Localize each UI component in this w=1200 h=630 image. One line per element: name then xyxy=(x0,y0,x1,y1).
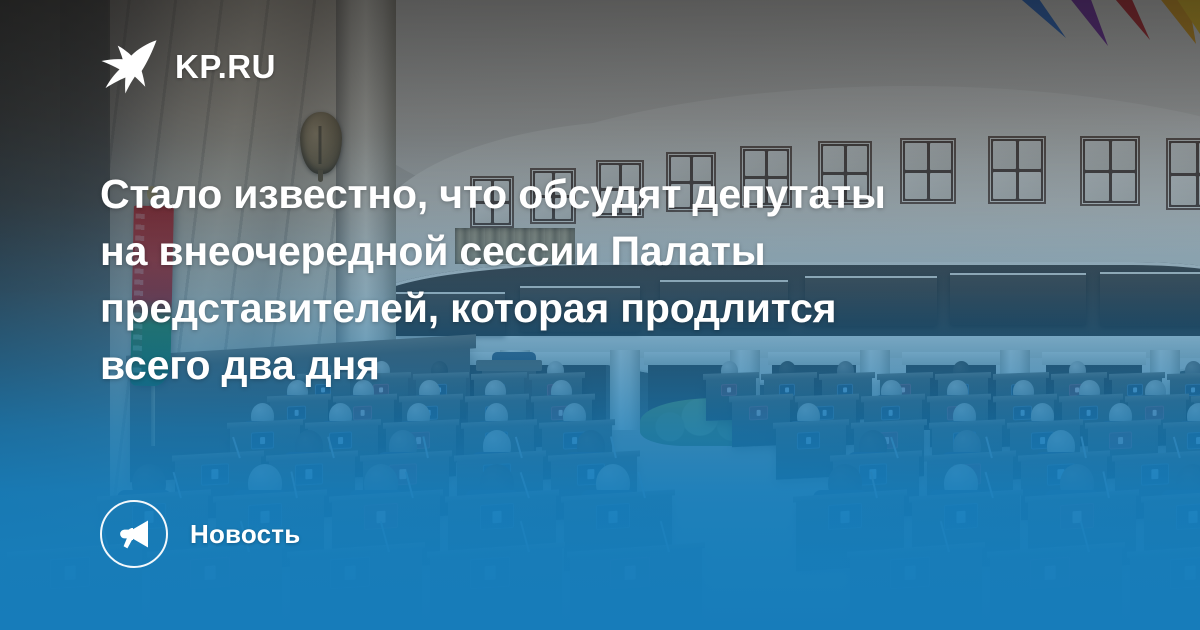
news-type-label: Новость xyxy=(190,519,300,550)
megaphone-icon xyxy=(117,519,151,549)
brand-name: KP.RU xyxy=(175,50,276,83)
brand-logo[interactable]: KP.RU xyxy=(100,38,1140,94)
news-type-badge[interactable]: Новость xyxy=(100,500,300,568)
card-content: KP.RU Стало известно, что обсудят депута… xyxy=(0,0,1200,630)
swallow-bird-icon xyxy=(100,38,158,94)
headline: Стало известно, что обсудят депутаты на … xyxy=(100,166,1075,394)
news-share-card: KP.RU Стало известно, что обсудят депута… xyxy=(0,0,1200,630)
megaphone-icon-circle xyxy=(100,500,168,568)
